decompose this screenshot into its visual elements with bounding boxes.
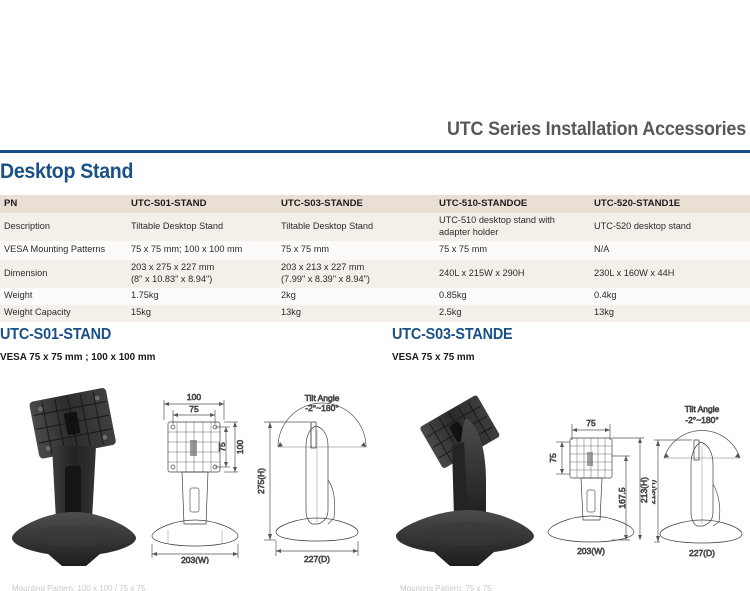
row-label-weight-capacity: Weight Capacity	[0, 305, 127, 322]
dim-s03-depth: 227(D)	[689, 548, 715, 558]
product-photo-s03	[392, 382, 542, 570]
table-row-description: Description Tiltable Desktop Stand Tilta…	[0, 213, 750, 241]
cell-weight-1: 1.75kg	[127, 288, 277, 305]
cell-description-4: UTC-520 desktop stand	[590, 213, 750, 241]
dim-s03-front-height: 213(H)	[639, 477, 649, 503]
cell-vesa-4: N/A	[590, 241, 750, 260]
dim-s03-front-top: 75	[586, 418, 596, 428]
table-row-vesa: VESA Mounting Patterns 75 x 75 mm; 100 x…	[0, 241, 750, 260]
row-label-description: Description	[0, 213, 127, 241]
row-label-weight: Weight	[0, 288, 127, 305]
cell-weight-2: 2kg	[277, 288, 435, 305]
cell-pn-1: UTC-S01-STAND	[127, 195, 277, 213]
label-s01-tilt-angle: Tilt Angle	[305, 393, 340, 403]
dim-s01-front-side-inner: 75	[217, 442, 227, 452]
product-photo-s01	[4, 380, 144, 570]
row-label-vesa: VESA Mounting Patterns	[0, 241, 127, 260]
cell-weight-4: 0.4kg	[590, 288, 750, 305]
cell-dimension-2-line1: 203 x 213 x 227 mm	[281, 262, 430, 274]
dim-s01-front-top-inner: 75	[189, 404, 199, 414]
figures-row: 100 75	[0, 378, 750, 578]
cell-capacity-2: 13kg	[277, 305, 435, 322]
table-row-weight: Weight 1.75kg 2kg 0.85kg 0.4kg	[0, 288, 750, 305]
cell-dimension-2: 203 x 213 x 227 mm (7.99" x 8.39" x 8.94…	[277, 260, 435, 288]
footnote-s03: Mounting Pattern: 75 x 75	[400, 584, 492, 591]
cell-capacity-4: 13kg	[590, 305, 750, 322]
product-block-s01: UTC-S01-STAND VESA 75 x 75 mm ; 100 x 10…	[0, 326, 165, 363]
cell-vesa-1: 75 x 75 mm; 100 x 100 mm	[127, 241, 277, 260]
table-row-dimension: Dimension 203 x 275 x 227 mm (8" x 10.83…	[0, 260, 750, 288]
dim-s03-front-mid-height: 167.5	[617, 487, 627, 509]
datasheet-page: UTC Series Installation Accessories Desk…	[0, 0, 750, 591]
header-divider-rule	[0, 150, 750, 153]
row-label-dimension: Dimension	[0, 260, 127, 288]
section-title: Desktop Stand	[0, 160, 133, 184]
cell-pn-3: UTC-510-STANDOE	[435, 195, 590, 213]
product-block-s03: UTC-S03-STANDE VESA 75 x 75 mm	[392, 326, 522, 363]
drawing-s01-side-view: Tilt Angle -2°~180°	[254, 384, 380, 564]
dim-s03-front-width: 203(W)	[577, 546, 605, 556]
dim-s03-front-side: 75	[548, 453, 558, 463]
cell-description-1: Tiltable Desktop Stand	[127, 213, 277, 241]
table-row-weight-capacity: Weight Capacity 15kg 13kg 2.5kg 13kg	[0, 305, 750, 322]
drawing-s01-front-view: 100 75	[146, 384, 250, 564]
cell-dimension-4: 230L x 160W x 44H	[590, 260, 750, 288]
cell-capacity-1: 15kg	[127, 305, 277, 322]
cell-dimension-1-line2: (8" x 10.83" x 8.94")	[131, 274, 272, 286]
row-label-pn: PN	[0, 195, 127, 213]
drawing-s03-front-view: 75 75	[546, 384, 650, 564]
document-header: UTC Series Installation Accessories	[0, 118, 746, 141]
cell-dimension-2-line2: (7.99" x 8.39" x 8.94")	[281, 274, 430, 286]
cell-dimension-1-line1: 203 x 275 x 227 mm	[131, 262, 272, 274]
cell-dimension-1: 203 x 275 x 227 mm (8" x 10.83" x 8.94")	[127, 260, 277, 288]
dim-s01-front-width: 203(W)	[181, 555, 209, 564]
footnote-s01: Mounting Pattern: 100 x 100 / 75 x 75	[12, 584, 145, 591]
cell-description-3: UTC-510 desktop stand with adapter holde…	[435, 213, 590, 241]
cell-pn-2: UTC-S03-STANDE	[277, 195, 435, 213]
dim-s01-front-top-outer: 100	[187, 392, 201, 402]
dim-s01-height: 275(H)	[256, 468, 266, 494]
dim-s03-side-height: 213(H)	[652, 479, 657, 504]
cell-dimension-3: 240L x 215W x 290H	[435, 260, 590, 288]
product-vesa-note-s01: VESA 75 x 75 mm ; 100 x 100 mm	[0, 351, 155, 363]
dim-s03-tilt-range: -2°~180°	[685, 415, 719, 425]
product-vesa-note-s03: VESA 75 x 75 mm	[392, 351, 514, 363]
cell-pn-4: UTC-520-STAND1E	[590, 195, 750, 213]
specification-table: PN UTC-S01-STAND UTC-S03-STANDE UTC-510-…	[0, 195, 750, 322]
product-name-s03: UTC-S03-STANDE	[392, 326, 512, 344]
document-title: UTC Series Installation Accessories	[447, 118, 746, 141]
cell-capacity-3: 2.5kg	[435, 305, 590, 322]
drawing-s03-side-view: Tilt Angle -2°~180°	[652, 384, 748, 564]
cell-weight-3: 0.85kg	[435, 288, 590, 305]
cell-vesa-2: 75 x 75 mm	[277, 241, 435, 260]
product-name-s01: UTC-S01-STAND	[0, 326, 154, 344]
cell-description-2: Tiltable Desktop Stand	[277, 213, 435, 241]
dim-s01-front-side-outer: 100	[235, 440, 245, 454]
cell-vesa-3: 75 x 75 mm	[435, 241, 590, 260]
label-s03-tilt-angle: Tilt Angle	[685, 404, 720, 414]
dim-s01-depth: 227(D)	[304, 554, 330, 564]
table-row-pn: PN UTC-S01-STAND UTC-S03-STANDE UTC-510-…	[0, 195, 750, 213]
